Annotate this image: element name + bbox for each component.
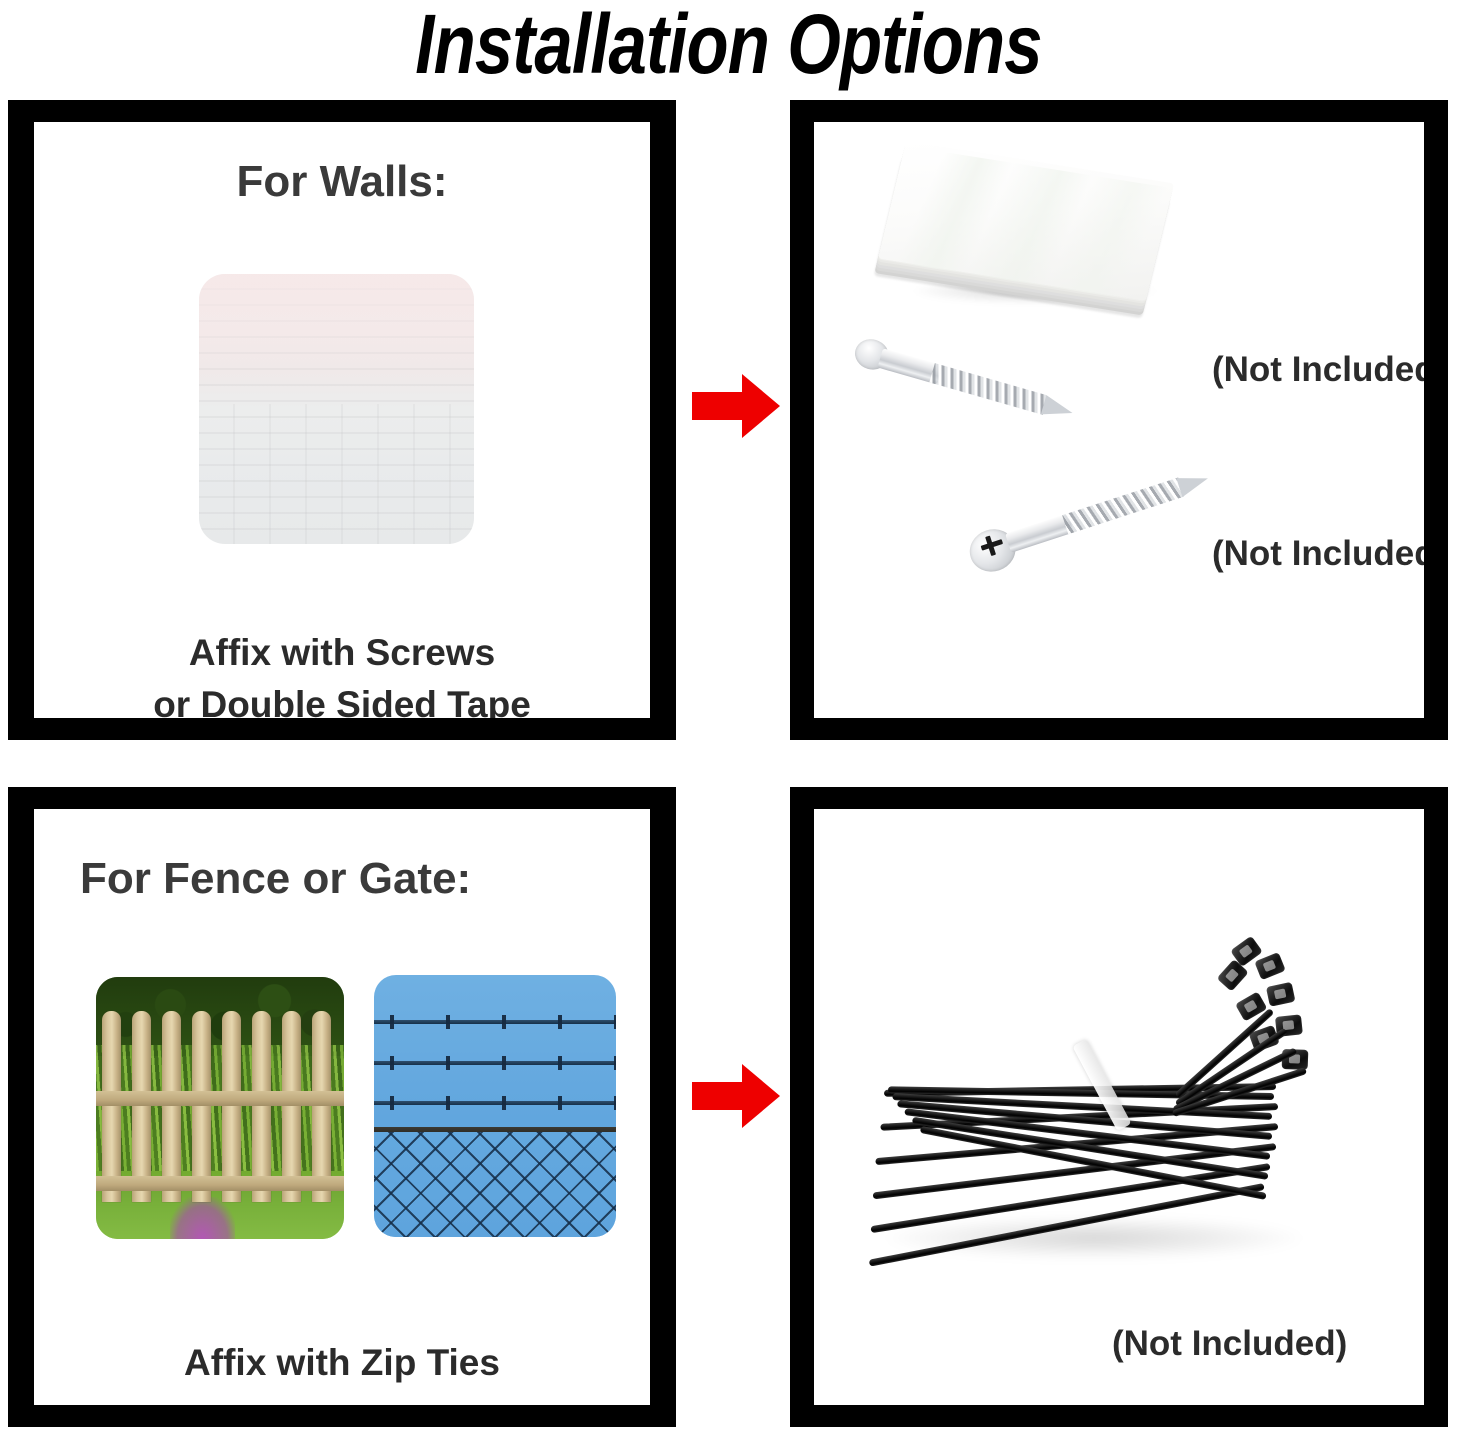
barbed-wire-strand [374, 1061, 616, 1065]
barbed-wire-strand [374, 1020, 616, 1024]
tape-sheen [895, 149, 1169, 302]
white-brick-wall-photo [199, 274, 474, 544]
panel-for-walls: For Walls: Affix with Screws or Double S… [8, 100, 676, 740]
picket [162, 1011, 181, 1202]
zip-tie-head [1254, 952, 1286, 980]
caption-for-fence: Affix with Zip Ties [34, 1337, 650, 1389]
panel-for-walls-content: For Walls: Affix with Screws or Double S… [34, 122, 650, 718]
ties-shadow [884, 1217, 1304, 1259]
screw-tip-lower [1176, 469, 1211, 497]
caption-for-walls: Affix with Screws or Double Sided Tape [34, 627, 650, 718]
picket [312, 1011, 331, 1202]
picket [192, 1011, 211, 1202]
panel-wall-hardware-content: (Not Included) (Not Included) [814, 122, 1424, 718]
chain-link-barbed-wire-fence-photo [374, 975, 616, 1237]
fence-rail-upper [96, 1091, 344, 1106]
fence-pickets [96, 1011, 344, 1202]
picket [102, 1011, 121, 1202]
panel-for-fence-or-gate: For Fence or Gate: [8, 787, 676, 1427]
barbed-wire-strand [374, 1101, 616, 1105]
black-zip-ties-bundle [844, 887, 1364, 1307]
double-sided-tape-stack [892, 160, 1172, 320]
fence-rail-lower [96, 1176, 344, 1191]
ties-not-included-label: (Not Included) [1112, 1324, 1347, 1364]
wood-screw-upper [849, 333, 1080, 436]
page-title: Installation Options [131, 0, 1326, 92]
panel-wall-hardware: (Not Included) (Not Included) [790, 100, 1448, 740]
red-right-arrow-top [690, 370, 782, 442]
wooden-picket-fence-photo [96, 977, 344, 1239]
screw-tip-upper [1041, 395, 1075, 422]
brick-joints [199, 404, 474, 544]
chain-link-mesh [374, 1132, 616, 1237]
purple-patch [170, 1197, 234, 1239]
red-right-arrow-bottom [690, 1060, 782, 1132]
heading-for-fence-or-gate: For Fence or Gate: [80, 853, 471, 905]
zip-tie-head [1266, 982, 1296, 1007]
infographic-root: Installation Options For Walls: Affix wi… [0, 0, 1457, 1434]
brick-warm-tint [199, 274, 474, 387]
screw-thread-lower [1062, 478, 1184, 535]
tape-not-included-label: (Not Included) [1212, 350, 1424, 390]
panel-for-fence-content: For Fence or Gate: [34, 809, 650, 1405]
wood-screw-lower [963, 456, 1215, 577]
caption-line-2: or Double Sided Tape [34, 679, 650, 718]
panel-fence-hardware: (Not Included) [790, 787, 1448, 1427]
picket [222, 1011, 241, 1202]
heading-for-walls: For Walls: [34, 156, 650, 208]
screw-thread-upper [929, 363, 1048, 415]
screws-not-included-label: (Not Included) [1212, 534, 1424, 574]
picket [132, 1011, 151, 1202]
picket [252, 1011, 271, 1202]
picket [282, 1011, 301, 1202]
panel-fence-hardware-content: (Not Included) [814, 809, 1424, 1405]
caption-line-1: Affix with Screws [34, 627, 650, 679]
